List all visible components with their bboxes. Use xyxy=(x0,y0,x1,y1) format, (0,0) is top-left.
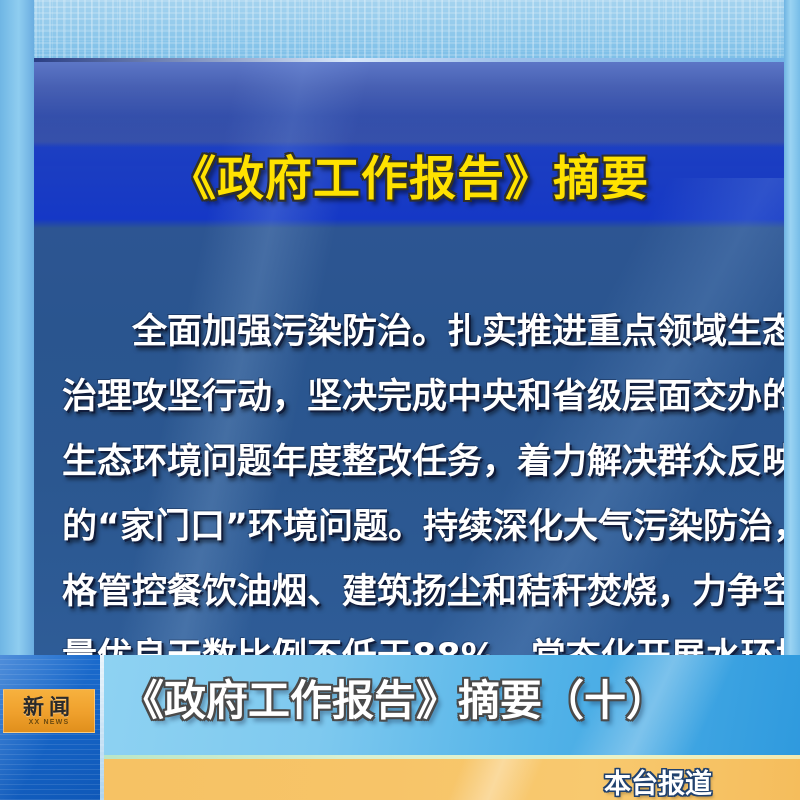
source-credit: 本台报道 xyxy=(604,762,712,800)
news-logo-icon: 新闻 XX NEWS xyxy=(3,689,95,733)
banner-headline-bar: 《政府工作报告》摘要（十） xyxy=(104,655,800,755)
source-bar-light-sweep xyxy=(344,759,644,800)
banner-main: 《政府工作报告》摘要（十） 本台报道 xyxy=(104,655,800,800)
body-line: 的“家门口”环境问题。持续深化大气污染防治，严 xyxy=(62,495,762,560)
banner-headline: 《政府工作报告》摘要（十） xyxy=(122,667,668,728)
content-panel: 《政府工作报告》摘要 全面加强污染防治。扎实推进重点领域生态环境 治理攻坚行动，… xyxy=(34,58,784,655)
body-line: 格管控餐饮油烟、建筑扬尘和秸秆焚烧，力争空气质 xyxy=(62,560,762,625)
banner-source-bar: 本台报道 xyxy=(104,759,800,800)
report-body-text: 全面加强污染防治。扎实推进重点领域生态环境 治理攻坚行动，坚决完成中央和省级层面… xyxy=(62,300,762,655)
news-logo-label-cn: 新闻 xyxy=(23,696,75,718)
body-line: 生态环境问题年度整改任务，着力解决群众反映强烈 xyxy=(62,430,762,495)
lower-third-banner: 新闻 XX NEWS 《政府工作报告》摘要（十） 本台报道 xyxy=(0,655,800,800)
news-logo-label-en: XX NEWS xyxy=(29,718,70,727)
body-line: 治理攻坚行动，坚决完成中央和省级层面交办的突出 xyxy=(62,365,762,430)
channel-logo-panel: 新闻 XX NEWS xyxy=(0,655,100,800)
body-line: 全面加强污染防治。扎实推进重点领域生态环境 xyxy=(62,300,762,365)
page-title: 《政府工作报告》摘要 xyxy=(34,140,784,209)
body-line: 量优良天数比例不低于88%。常态化开展水环境治理， xyxy=(62,625,762,655)
broadcast-screen: 《政府工作报告》摘要 全面加强污染防治。扎实推进重点领域生态环境 治理攻坚行动，… xyxy=(0,0,800,800)
top-glow-overlay xyxy=(0,0,800,60)
